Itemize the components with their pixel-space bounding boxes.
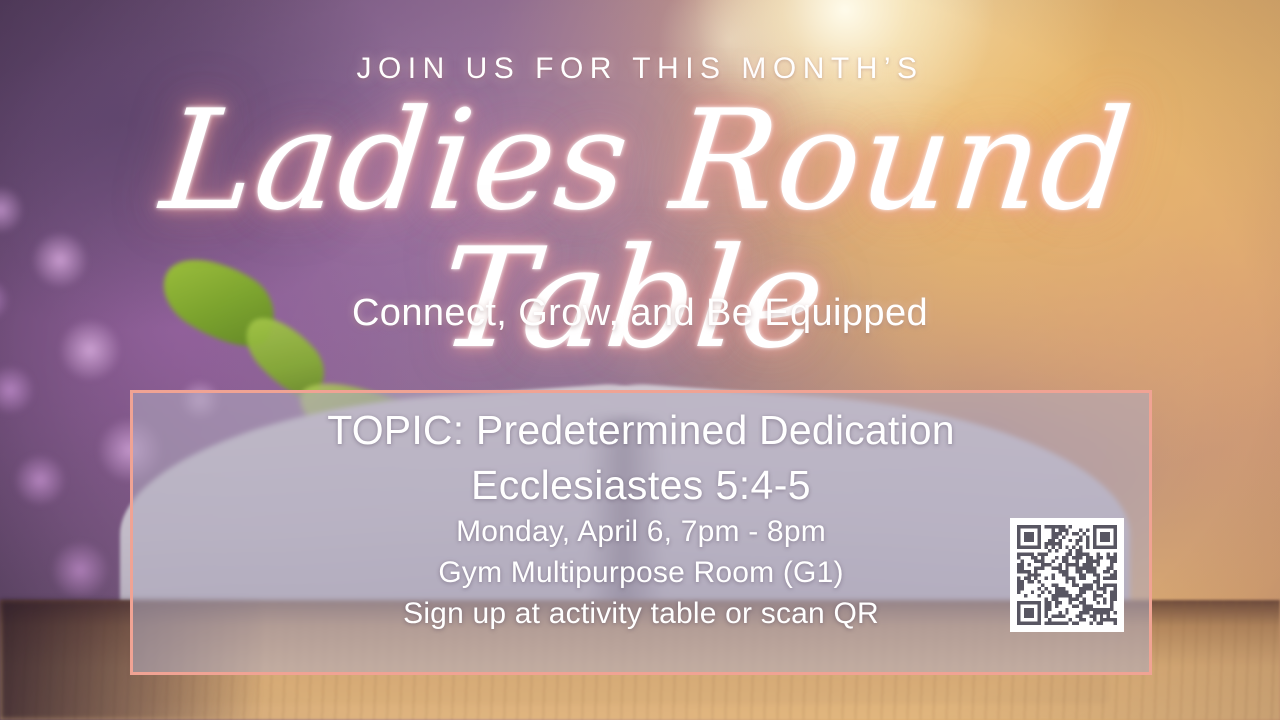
event-location: Gym Multipurpose Room (G1) [438,556,843,590]
scripture-reference: Ecclesiastes 5:4-5 [471,462,811,509]
signup-instructions: Sign up at activity table or scan QR [403,597,879,631]
qr-code-icon [1017,525,1117,625]
event-datetime: Monday, April 6, 7pm - 8pm [456,515,826,549]
flyer-canvas: JOIN US FOR THIS MONTH’S Ladies Round Ta… [0,0,1280,720]
topic-heading: TOPIC: Predetermined Dedication [327,407,955,454]
event-details-panel: TOPIC: Predetermined Dedication Ecclesia… [130,390,1152,675]
tagline-text: Connect, Grow, and Be Equipped [0,292,1280,335]
qr-code[interactable] [1010,518,1124,632]
